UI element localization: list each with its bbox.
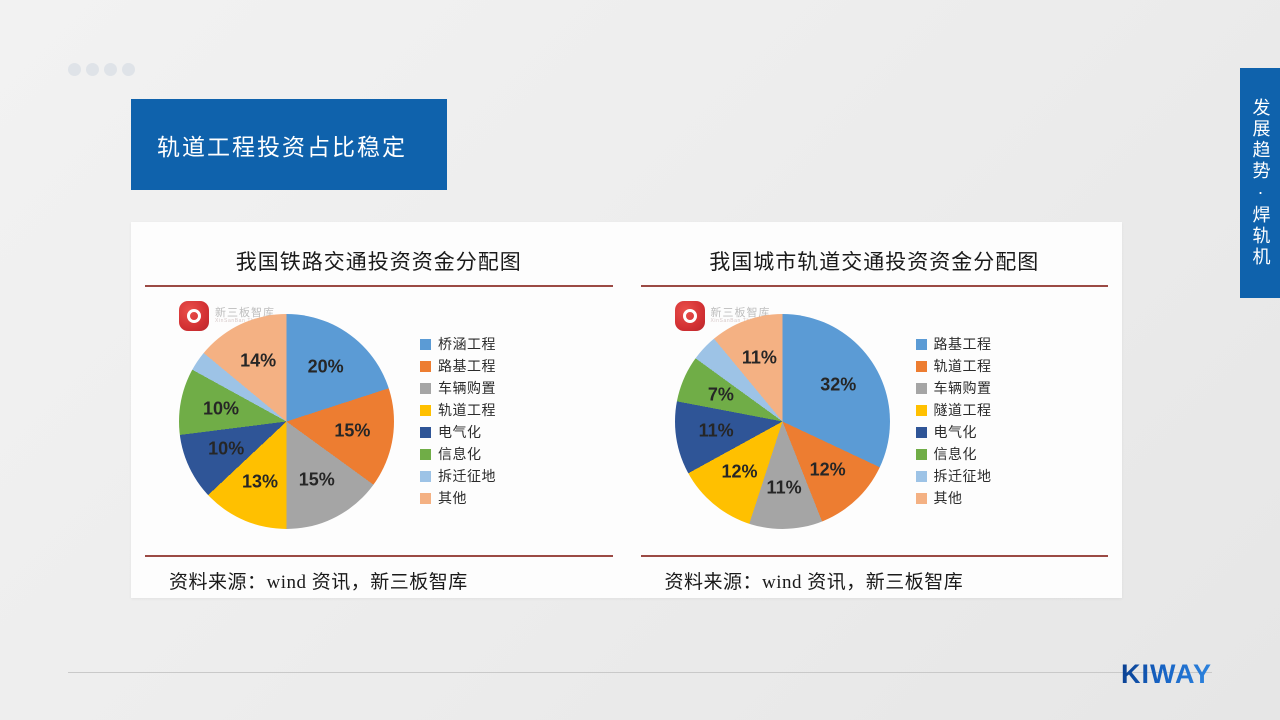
pie-slice-label: 10% <box>203 398 239 419</box>
legend-item[interactable]: 信息化 <box>916 444 992 465</box>
pie-slice-label: 11% <box>699 421 734 442</box>
pie-slice-label: 15% <box>299 470 335 491</box>
legend-item-label: 桥涵工程 <box>438 334 496 354</box>
legend-swatch-icon <box>916 493 927 504</box>
legend-item-label: 电气化 <box>934 422 978 442</box>
legend-item[interactable]: 车辆购置 <box>420 378 496 399</box>
legend-swatch-icon <box>420 449 431 460</box>
chart-source-wrap: 资料来源：wind 资讯，新三板智库 <box>145 557 613 598</box>
legend-item-label: 信息化 <box>438 444 482 464</box>
legend-item-label: 车辆购置 <box>438 378 496 398</box>
legend-swatch-icon <box>916 427 927 438</box>
legend-item[interactable]: 轨道工程 <box>420 400 496 421</box>
legend-item[interactable]: 其他 <box>420 488 496 509</box>
pie-slice-label: 7% <box>708 384 734 405</box>
legend-swatch-icon <box>420 471 431 482</box>
chart-legend: 桥涵工程路基工程车辆购置轨道工程电气化信息化拆迁征地其他 <box>420 334 496 509</box>
legend-item[interactable]: 车辆购置 <box>916 378 992 399</box>
dot-1 <box>68 63 81 76</box>
chart-legend: 路基工程轨道工程车辆购置隧道工程电气化信息化拆迁征地其他 <box>916 334 992 509</box>
dot-2 <box>86 63 99 76</box>
pie-slice-label: 12% <box>722 462 758 483</box>
legend-item-label: 拆迁征地 <box>934 466 992 486</box>
legend-item-label: 电气化 <box>438 422 482 442</box>
legend-item[interactable]: 路基工程 <box>916 334 992 355</box>
dot-3 <box>104 63 117 76</box>
pie-slice-label: 11% <box>767 477 802 498</box>
legend-item[interactable]: 拆迁征地 <box>916 466 992 487</box>
legend-swatch-icon <box>420 339 431 350</box>
section-side-tab-label: 发展趋势·焊轨机 <box>1251 98 1270 268</box>
chart-panel-urban-rail: 我国城市轨道交通投资资金分配图 新三板智库 XinSanBan Think Ta… <box>627 222 1123 598</box>
legend-swatch-icon <box>420 405 431 416</box>
pie-chart-urban-rail: 32%12%11%12%11%7%11% <box>675 314 890 529</box>
legend-swatch-icon <box>916 449 927 460</box>
pie-slice-label: 12% <box>810 459 846 480</box>
pie-slice-label: 15% <box>334 421 370 442</box>
dot-4 <box>122 63 135 76</box>
legend-item-label: 隧道工程 <box>934 400 992 420</box>
charts-card: 我国铁路交通投资资金分配图 新三板智库 XinSanBan Think Tank… <box>131 222 1122 598</box>
pie-slice-label: 14% <box>240 350 276 371</box>
legend-swatch-icon <box>916 361 927 372</box>
pie-slice-label: 20% <box>308 357 344 378</box>
decorative-dots <box>68 63 135 76</box>
chart-body: 新三板智库 XinSanBan Think Tank 20%15%15%13%1… <box>145 287 613 555</box>
legend-item[interactable]: 隧道工程 <box>916 400 992 421</box>
legend-swatch-icon <box>420 383 431 394</box>
pie-slice-label: 10% <box>208 439 244 460</box>
legend-swatch-icon <box>916 339 927 350</box>
chart-body: 新三板智库 XinSanBan Think Tank 32%12%11%12%1… <box>641 287 1109 555</box>
pie-slice-label: 13% <box>242 472 278 493</box>
section-side-tab: 发展趋势·焊轨机 <box>1240 68 1280 298</box>
legend-item[interactable]: 桥涵工程 <box>420 334 496 355</box>
legend-item-label: 其他 <box>438 488 467 508</box>
legend-item[interactable]: 电气化 <box>420 422 496 443</box>
chart-title: 我国城市轨道交通投资资金分配图 <box>641 222 1109 285</box>
pie-slice-label: 11% <box>742 348 777 369</box>
slide-title-box: 轨道工程投资占比稳定 <box>131 99 447 190</box>
legend-swatch-icon <box>916 405 927 416</box>
legend-item[interactable]: 其他 <box>916 488 992 509</box>
legend-swatch-icon <box>420 361 431 372</box>
page-title: 轨道工程投资占比稳定 <box>131 128 407 162</box>
legend-item[interactable]: 路基工程 <box>420 356 496 377</box>
legend-item-label: 轨道工程 <box>934 356 992 376</box>
legend-item[interactable]: 轨道工程 <box>916 356 992 377</box>
pie-chart-railway: 20%15%15%13%10%10%14% <box>179 314 394 529</box>
chart-source: 资料来源：wind 资讯，新三板智库 <box>145 557 613 594</box>
legend-item-label: 其他 <box>934 488 963 508</box>
legend-item-label: 路基工程 <box>934 334 992 354</box>
chart-source: 资料来源：wind 资讯，新三板智库 <box>641 557 1109 594</box>
legend-swatch-icon <box>916 383 927 394</box>
legend-swatch-icon <box>916 471 927 482</box>
legend-item[interactable]: 电气化 <box>916 422 992 443</box>
footer-divider <box>68 672 1212 673</box>
legend-item[interactable]: 拆迁征地 <box>420 466 496 487</box>
legend-item-label: 信息化 <box>934 444 978 464</box>
legend-item-label: 车辆购置 <box>934 378 992 398</box>
legend-item-label: 路基工程 <box>438 356 496 376</box>
legend-swatch-icon <box>420 493 431 504</box>
pie-slice-label: 32% <box>820 375 856 396</box>
chart-source-wrap: 资料来源：wind 资讯，新三板智库 <box>641 557 1109 598</box>
brand-logo: KIWAY <box>1121 659 1212 690</box>
chart-title: 我国铁路交通投资资金分配图 <box>145 222 613 285</box>
chart-panel-railway: 我国铁路交通投资资金分配图 新三板智库 XinSanBan Think Tank… <box>131 222 627 598</box>
slide-canvas: 轨道工程投资占比稳定 发展趋势·焊轨机 我国铁路交通投资资金分配图 新三板智库 … <box>0 0 1280 720</box>
legend-swatch-icon <box>420 427 431 438</box>
legend-item[interactable]: 信息化 <box>420 444 496 465</box>
legend-item-label: 轨道工程 <box>438 400 496 420</box>
legend-item-label: 拆迁征地 <box>438 466 496 486</box>
